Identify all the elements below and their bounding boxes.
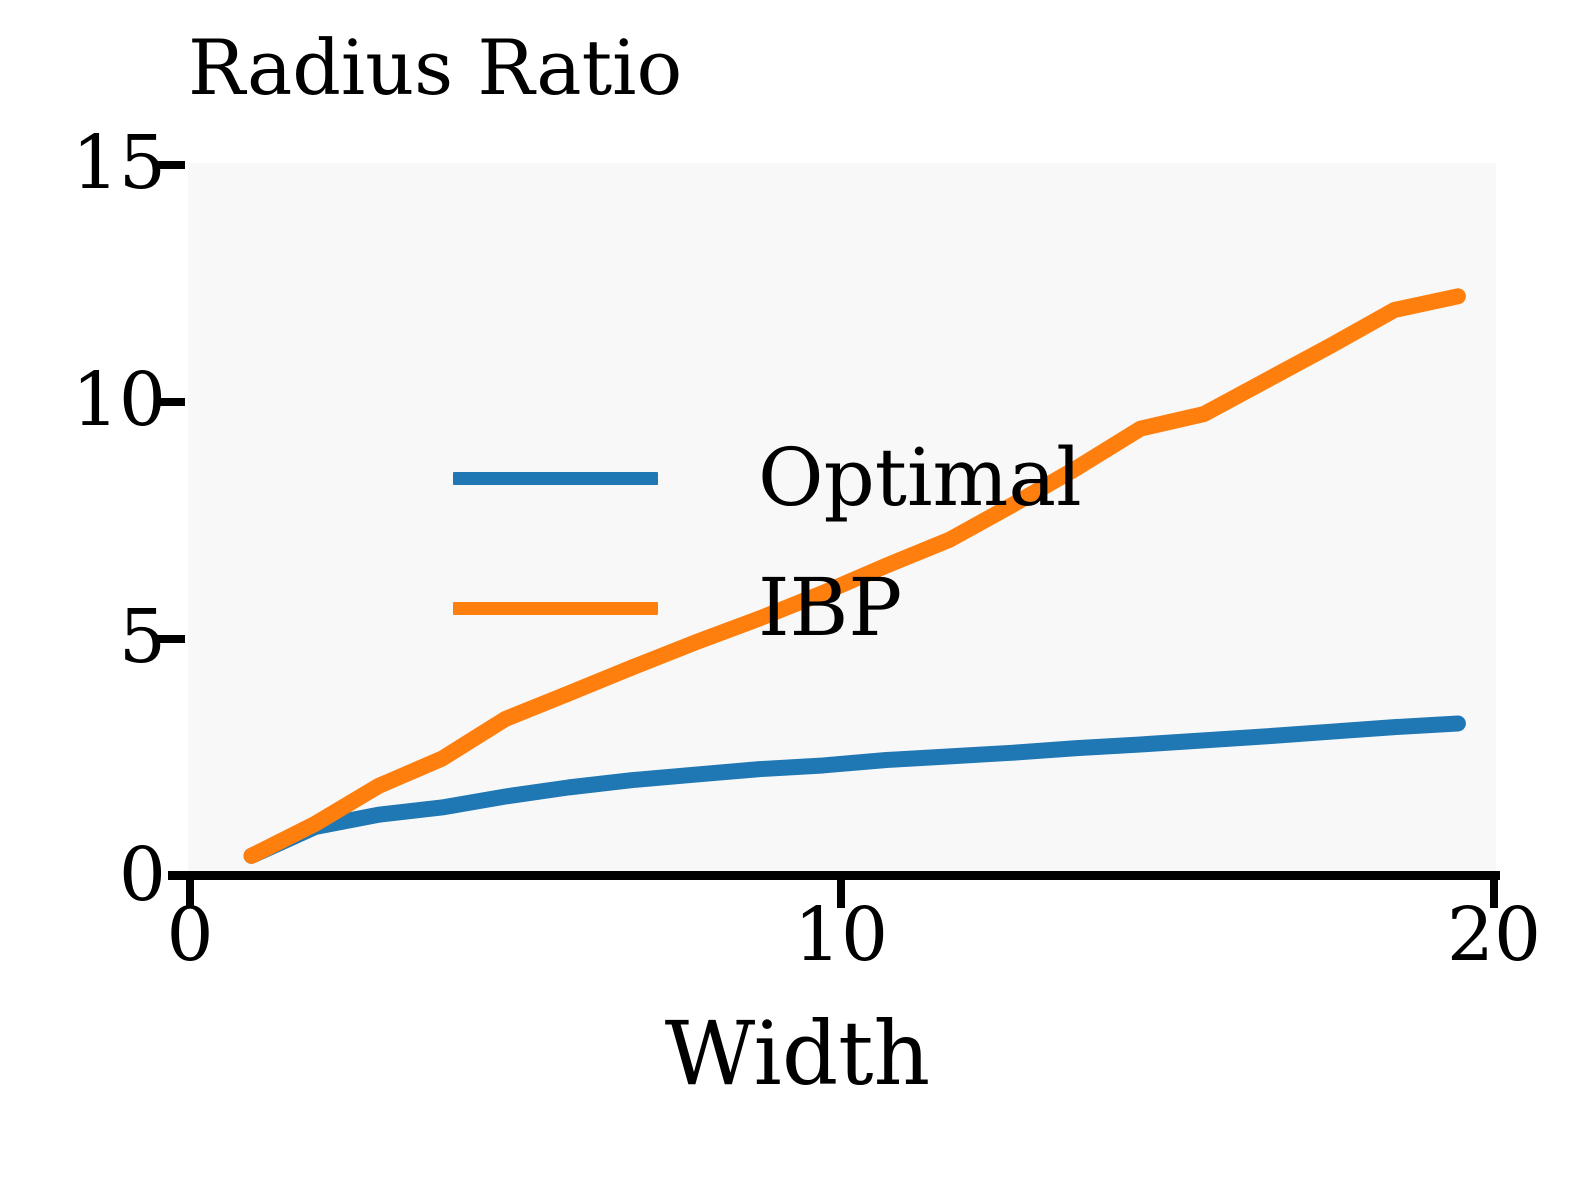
legend-swatch-optimal xyxy=(453,472,658,485)
x-axis-spine xyxy=(168,871,1500,880)
y-tick-mark-15 xyxy=(155,161,185,169)
legend-item-ibp: IBP xyxy=(453,543,1153,673)
x-tick-label-10: 10 xyxy=(794,898,888,972)
chart-legend: Optimal IBP xyxy=(453,413,1153,673)
y-tick-mark-10 xyxy=(155,398,185,406)
y-tick-label-10: 10 xyxy=(72,363,166,437)
x-tick-label-20: 20 xyxy=(1447,898,1541,972)
chart-figure: Radius Ratio 15 10 5 0 Optimal IBP 0 10 xyxy=(0,0,1595,1193)
y-tick-mark-5 xyxy=(155,635,185,643)
legend-label-ibp: IBP xyxy=(758,568,902,648)
series-line-optimal xyxy=(252,723,1458,855)
y-tick-label-15: 15 xyxy=(72,126,166,200)
x-axis-label: Width xyxy=(0,1010,1595,1098)
x-tick-label-0: 0 xyxy=(166,898,213,972)
chart-title: Radius Ratio xyxy=(188,30,682,106)
legend-swatch-ibp xyxy=(453,602,658,615)
legend-label-optimal: Optimal xyxy=(758,438,1082,518)
legend-item-optimal: Optimal xyxy=(453,413,1153,543)
plot-area: Optimal IBP xyxy=(188,163,1496,875)
y-tick-label-0: 0 xyxy=(119,838,166,912)
